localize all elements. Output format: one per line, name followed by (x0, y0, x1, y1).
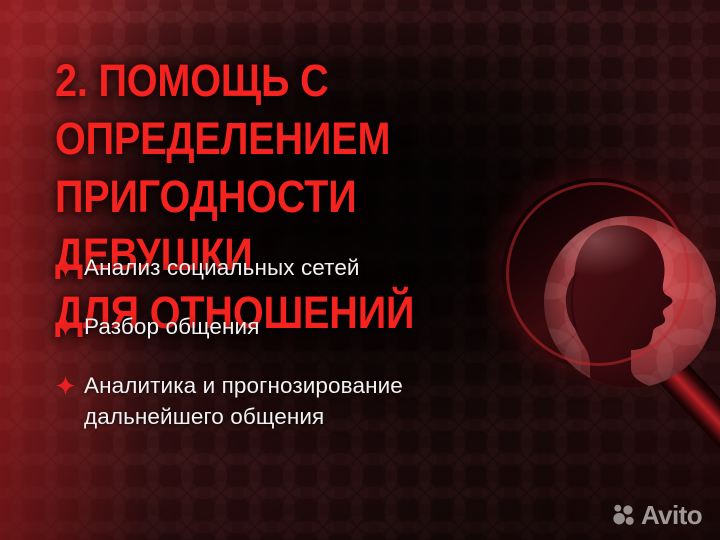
sparkle-icon (56, 258, 75, 277)
avito-watermark: Avito (613, 502, 702, 528)
list-item: Разбор общения (56, 311, 576, 342)
avito-wordmark: Avito (641, 502, 702, 528)
list-item-label: Аналитика и прогнозирование дальнейшего … (84, 370, 403, 432)
feature-list: Анализ социальных сетей Разбор общения А… (56, 252, 576, 432)
list-item: Аналитика и прогнозирование дальнейшего … (56, 370, 576, 432)
sparkle-icon (56, 317, 75, 336)
list-item-label: Анализ социальных сетей (84, 252, 360, 283)
avito-dots-logo-icon (613, 504, 636, 527)
sparkle-icon (56, 376, 75, 395)
promo-slide: 2. Помощь с определением пригодности дев… (0, 0, 720, 540)
list-item-label: Разбор общения (84, 311, 260, 342)
list-item: Анализ социальных сетей (56, 252, 576, 283)
